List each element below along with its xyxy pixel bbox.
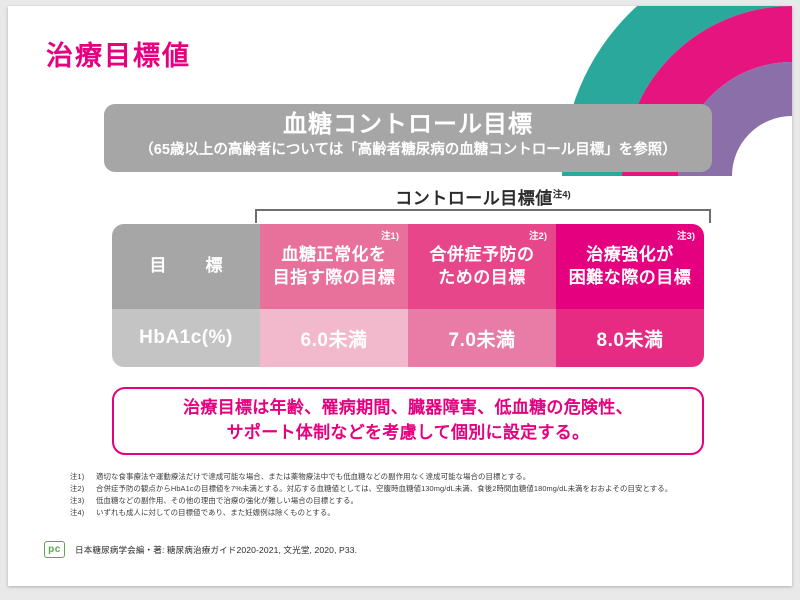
table-header-col-1-line1: 血糖正常化を — [282, 245, 387, 264]
table-header-col-1-text: 血糖正常化を 目指す際の目標 — [269, 244, 400, 289]
source-citation-text: 日本糖尿病学会編・著: 糖尿病治療ガイド2020-2021, 文光堂, 2020… — [75, 544, 357, 556]
banner-title: 血糖コントロール目標 — [104, 111, 712, 139]
control-target-table: 目 標 注1) 血糖正常化を 目指す際の目標 注2) 合併症予防の ための目標 … — [112, 224, 704, 367]
slide-canvas: 治療目標値 血糖コントロール目標 （65歳以上の高齢者については「高齢者糖尿病の… — [8, 6, 792, 586]
control-target-bracket — [255, 209, 711, 223]
callout-text: 治療目標は年齢、罹病期間、臓器障害、低血糖の危険性、 サポート体制などを考慮して… — [183, 396, 633, 445]
control-target-caption-note: 注4) — [553, 189, 571, 200]
table-header-col-3-note: 注3) — [677, 231, 695, 244]
callout-line-1: 治療目標は年齢、罹病期間、臓器障害、低血糖の危険性、 — [183, 398, 633, 417]
table-header-col-3: 注3) 治療強化が 困難な際の目標 — [556, 224, 704, 309]
footnote-1-mark: 注1) — [70, 471, 96, 483]
footnote-2-mark: 注2) — [70, 483, 96, 495]
table-row: HbA1c(%) 6.0未満 7.0未満 8.0未満 — [112, 309, 704, 367]
table-header-col-3-line2: 困難な際の目標 — [569, 268, 692, 287]
footnote-4-mark: 注4) — [70, 507, 96, 519]
banner: 血糖コントロール目標 （65歳以上の高齢者については「高齢者糖尿病の血糖コントロ… — [104, 104, 712, 172]
table-cell-value-2: 7.0未満 — [408, 309, 556, 367]
page-title: 治療目標値 — [46, 34, 191, 73]
footnote-3-text: 低血糖などの副作用、その他の理由で治療の強化が難しい場合の目標とする。 — [96, 496, 358, 505]
source-citation: pc 日本糖尿病学会編・著: 糖尿病治療ガイド2020-2021, 文光堂, 2… — [44, 541, 357, 558]
table-row-label: HbA1c(%) — [112, 309, 260, 367]
table-header-label: 目 標 — [112, 224, 260, 309]
footnote-3: 注3)低血糖などの副作用、その他の理由で治療の強化が難しい場合の目標とする。 — [70, 495, 770, 507]
banner-subtitle: （65歳以上の高齢者については「高齢者糖尿病の血糖コントロール目標」を参照） — [104, 141, 712, 160]
table-header-col-1-note: 注1) — [381, 231, 399, 244]
callout-box: 治療目標は年齢、罹病期間、臓器障害、低血糖の危険性、 サポート体制などを考慮して… — [112, 387, 704, 455]
table-header-col-2-note: 注2) — [529, 231, 547, 244]
table-header-col-2: 注2) 合併症予防の ための目標 — [408, 224, 556, 309]
table-header-col-2-line2: ための目標 — [438, 268, 526, 287]
table-header-label-text: 目 標 — [139, 255, 234, 277]
table-cell-value-3: 8.0未満 — [556, 309, 704, 367]
footnote-4: 注4)いずれも成人に対しての目標値であり、また妊娠例は除くものとする。 — [70, 507, 770, 519]
control-target-caption: コントロール目標値注4) — [254, 184, 712, 209]
table-header-col-2-line1: 合併症予防の — [430, 245, 535, 264]
footnote-4-text: いずれも成人に対しての目標値であり、また妊娠例は除くものとする。 — [96, 508, 335, 517]
footnote-3-mark: 注3) — [70, 495, 96, 507]
pc-logo-icon: pc — [44, 541, 65, 558]
callout-line-2: サポート体制などを考慮して個別に設定する。 — [227, 423, 590, 442]
table-header-col-1-line2: 目指す際の目標 — [273, 268, 396, 287]
control-target-caption-text: コントロール目標値 — [395, 189, 553, 208]
table-cell-value-1: 6.0未満 — [260, 309, 408, 367]
table-header-col-3-line1: 治療強化が — [586, 245, 674, 264]
table-header-col-3-text: 治療強化が 困難な際の目標 — [565, 244, 696, 289]
footnotes: 注1)適切な食事療法や運動療法だけで達成可能な場合、または薬物療法中でも低血糖な… — [70, 471, 770, 519]
table-header-col-1: 注1) 血糖正常化を 目指す際の目標 — [260, 224, 408, 309]
footnote-2: 注2)合併症予防の観点からHbA1cの目標値を7%未満とする。対応する血糖値とし… — [70, 483, 770, 495]
footnote-2-text: 合併症予防の観点からHbA1cの目標値を7%未満とする。対応する血糖値としては、… — [96, 484, 672, 493]
footnote-1-text: 適切な食事療法や運動療法だけで達成可能な場合、または薬物療法中でも低血糖などの副… — [96, 472, 530, 481]
table-header-row: 目 標 注1) 血糖正常化を 目指す際の目標 注2) 合併症予防の ための目標 … — [112, 224, 704, 309]
footnote-1: 注1)適切な食事療法や運動療法だけで達成可能な場合、または薬物療法中でも低血糖な… — [70, 471, 770, 483]
table-header-col-2-text: 合併症予防の ための目標 — [426, 244, 539, 289]
